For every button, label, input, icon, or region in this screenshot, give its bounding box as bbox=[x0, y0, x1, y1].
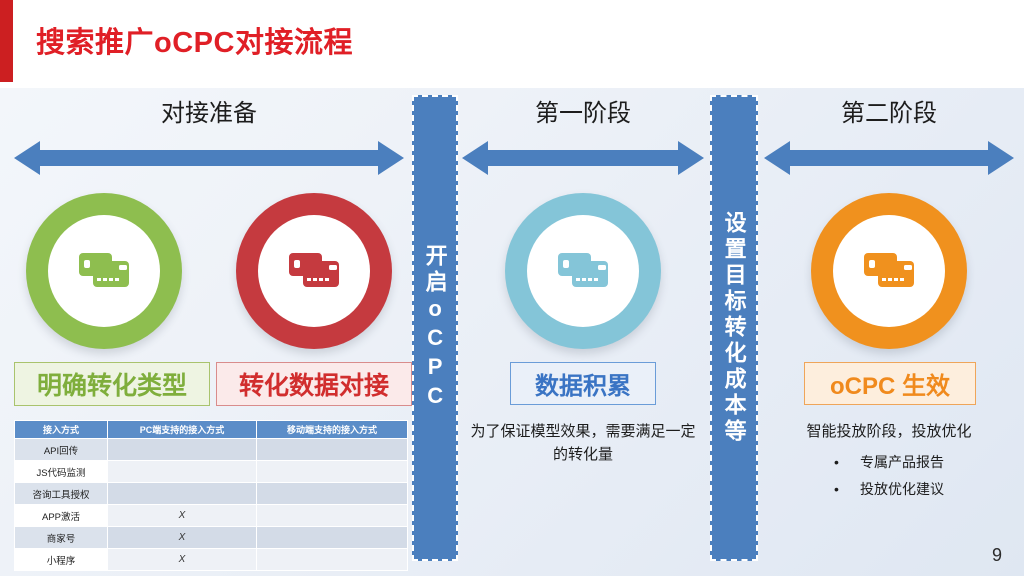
page-number: 9 bbox=[992, 545, 1002, 566]
phase-stage-two-description: 智能投放阶段，投放优化 bbox=[764, 420, 1014, 443]
phase-stage-one-arrow bbox=[462, 137, 704, 179]
table-header-pc: PC端支持的接入方式 bbox=[108, 421, 257, 439]
header-accent-bar bbox=[0, 0, 13, 82]
credit-card-icon bbox=[557, 251, 609, 291]
phase-stage-two-title: 第二阶段 bbox=[764, 95, 1014, 135]
table-row: 小程序X bbox=[15, 549, 408, 571]
table-cell-mobile bbox=[257, 505, 408, 527]
table-cell-method: API回传 bbox=[15, 439, 108, 461]
table-header-method: 接入方式 bbox=[15, 421, 108, 439]
bullet-dot-icon: • bbox=[834, 449, 860, 476]
table-row: 商家号X bbox=[15, 527, 408, 549]
table-row: JS代码监测 bbox=[15, 461, 408, 483]
table-cell-method: 咨询工具授权 bbox=[15, 483, 108, 505]
table-cell-pc bbox=[108, 461, 257, 483]
table-cell-pc: X bbox=[108, 527, 257, 549]
phase-stage-one-title: 第一阶段 bbox=[462, 95, 704, 135]
data-accumulation-circle bbox=[505, 193, 661, 349]
table-cell-mobile bbox=[257, 461, 408, 483]
table-cell-mobile bbox=[257, 527, 408, 549]
table-cell-pc: X bbox=[108, 505, 257, 527]
table-cell-pc bbox=[108, 483, 257, 505]
phase-preparation-title: 对接准备 bbox=[14, 95, 404, 135]
table-body: API回传JS代码监测咨询工具授权APP激活X商家号X小程序X bbox=[15, 439, 408, 571]
phase-stage-one-description: 为了保证模型效果，需要满足一定的转化量 bbox=[462, 420, 704, 467]
ocpc-effective-circle bbox=[811, 193, 967, 349]
list-item: •专属产品报告 bbox=[764, 449, 1014, 476]
list-item-label: 专属产品报告 bbox=[860, 454, 944, 470]
label-conversion-type: 明确转化类型 bbox=[14, 362, 210, 406]
table-row: APP激活X bbox=[15, 505, 408, 527]
phase-stage-one-circles bbox=[462, 187, 704, 362]
slide-header: 搜索推广oCPC对接流程 bbox=[0, 0, 1024, 88]
table-cell-mobile bbox=[257, 549, 408, 571]
table-row: API回传 bbox=[15, 439, 408, 461]
bullet-dot-icon: • bbox=[834, 476, 860, 503]
double-arrow-icon bbox=[764, 137, 1014, 179]
credit-card-icon bbox=[78, 251, 130, 291]
table-cell-mobile bbox=[257, 439, 408, 461]
list-item-label: 投放优化建议 bbox=[860, 481, 944, 497]
phase-preparation: 对接准备 bbox=[14, 95, 404, 410]
slide-canvas: 搜索推广oCPC对接流程 开启oCPC 设置目标转化成本等 对接准备 bbox=[0, 0, 1024, 576]
connector-set-target-cost-label: 设置目标转化成本等 bbox=[721, 211, 746, 445]
connector-set-target-cost: 设置目标转化成本等 bbox=[710, 95, 758, 561]
table-cell-method: 商家号 bbox=[15, 527, 108, 549]
double-arrow-icon bbox=[14, 137, 404, 179]
table-cell-method: 小程序 bbox=[15, 549, 108, 571]
credit-card-icon bbox=[863, 251, 915, 291]
phase-stage-two-bullets: •专属产品报告•投放优化建议 bbox=[764, 449, 1014, 502]
access-method-table: 接入方式 PC端支持的接入方式 移动端支持的接入方式 API回传JS代码监测咨询… bbox=[14, 420, 408, 571]
conversion-type-circle bbox=[26, 193, 182, 349]
phase-preparation-circles bbox=[14, 187, 404, 362]
phase-stage-two-arrow bbox=[764, 137, 1014, 179]
table-cell-pc bbox=[108, 439, 257, 461]
access-method-table-wrap: 接入方式 PC端支持的接入方式 移动端支持的接入方式 API回传JS代码监测咨询… bbox=[14, 420, 404, 571]
label-ocpc-effective: oCPC 生效 bbox=[804, 362, 976, 405]
connector-open-ocpc-label: 开启oCPC bbox=[422, 244, 447, 412]
phase-stage-two: 第二阶段 bbox=[764, 95, 1014, 502]
credit-card-icon bbox=[288, 251, 340, 291]
list-item: •投放优化建议 bbox=[764, 476, 1014, 503]
phase-stage-one-labels: 数据积累 bbox=[462, 362, 704, 410]
phase-stage-two-circles bbox=[764, 187, 1014, 362]
page-title: 搜索推广oCPC对接流程 bbox=[36, 19, 353, 61]
table-row: 咨询工具授权 bbox=[15, 483, 408, 505]
connector-open-ocpc: 开启oCPC bbox=[412, 95, 458, 561]
label-data-accumulation: 数据积累 bbox=[510, 362, 656, 405]
phase-stage-two-labels: oCPC 生效 bbox=[764, 362, 1014, 410]
phase-preparation-arrow bbox=[14, 137, 404, 179]
table-cell-method: APP激活 bbox=[15, 505, 108, 527]
table-cell-pc: X bbox=[108, 549, 257, 571]
table-cell-method: JS代码监测 bbox=[15, 461, 108, 483]
phase-stage-one: 第一阶段 bbox=[462, 95, 704, 467]
double-arrow-icon bbox=[462, 137, 704, 179]
phase-preparation-labels: 明确转化类型 转化数据对接 bbox=[14, 362, 404, 410]
conversion-data-circle bbox=[236, 193, 392, 349]
table-header-row: 接入方式 PC端支持的接入方式 移动端支持的接入方式 bbox=[15, 421, 408, 439]
table-header-mobile: 移动端支持的接入方式 bbox=[257, 421, 408, 439]
table-cell-mobile bbox=[257, 483, 408, 505]
label-conversion-data: 转化数据对接 bbox=[216, 362, 412, 406]
